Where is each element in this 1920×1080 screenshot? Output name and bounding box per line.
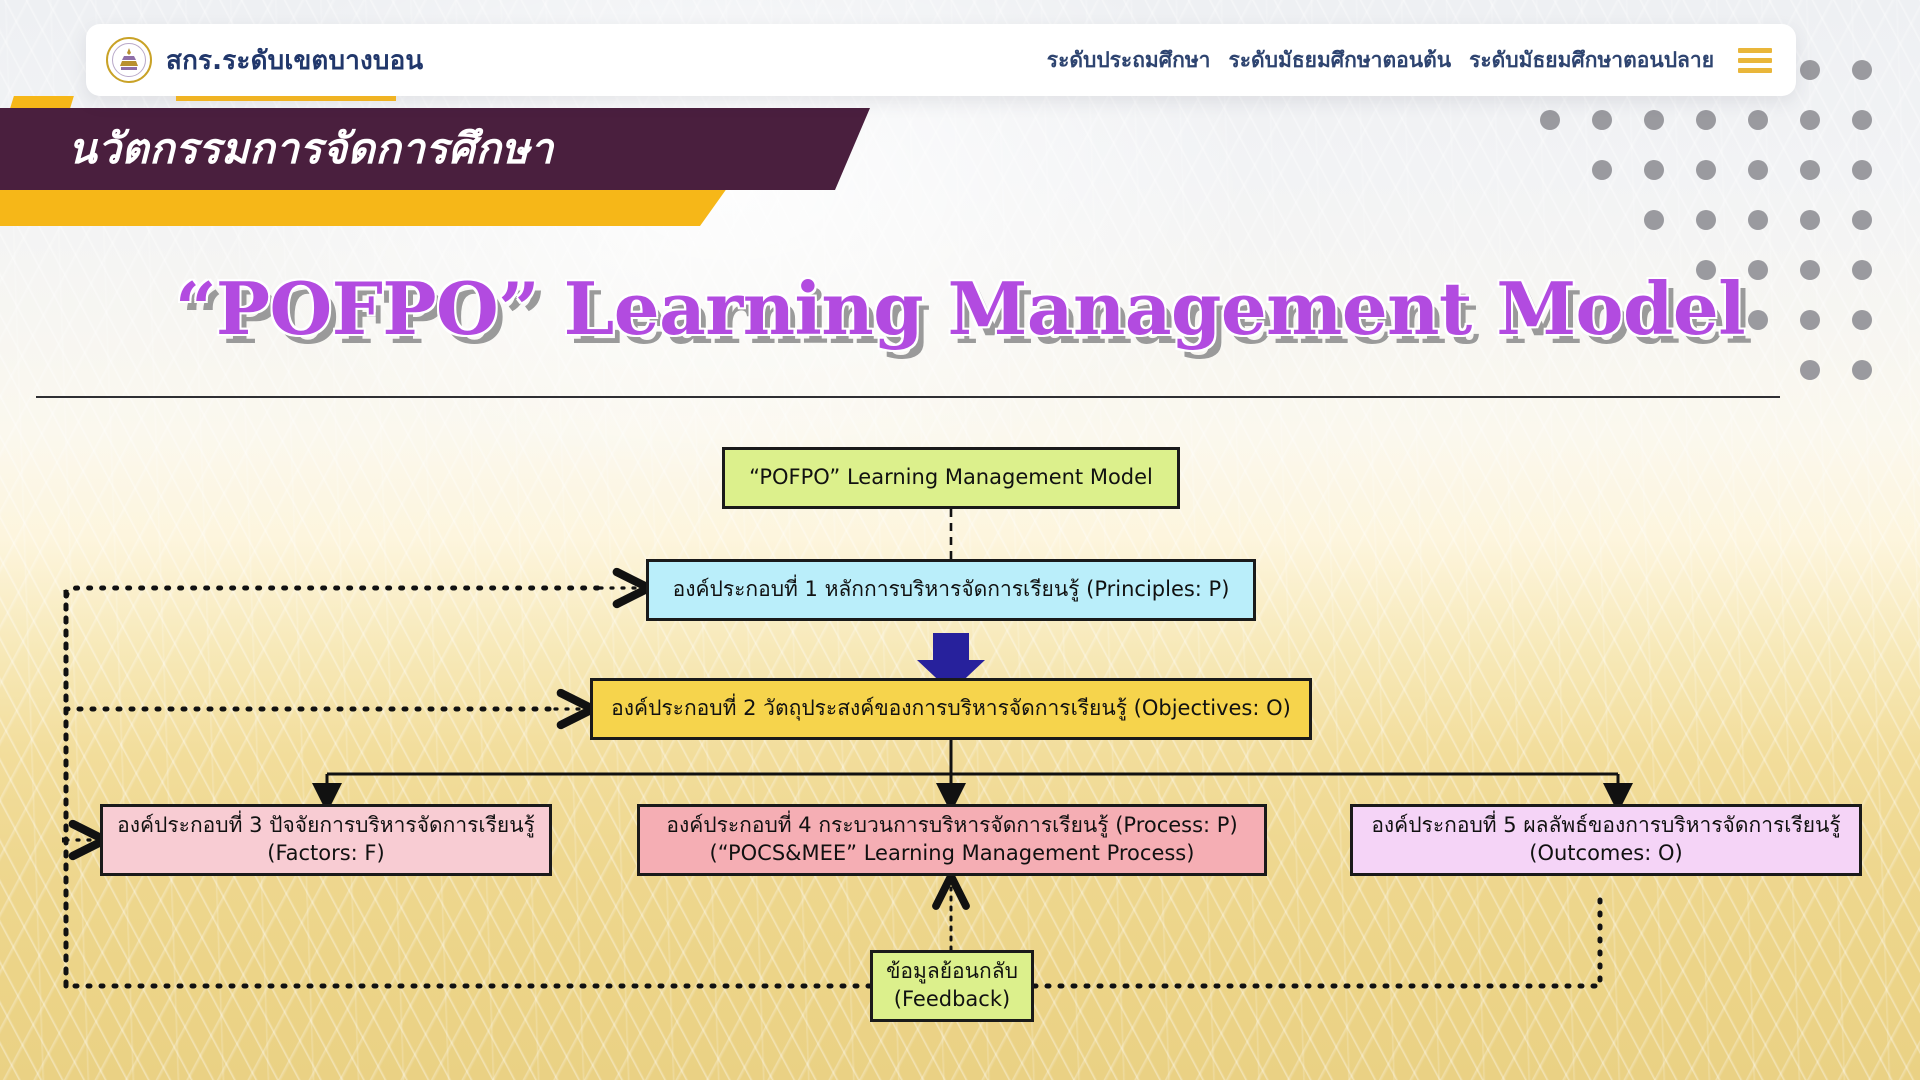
node-label-line1: ข้อมูลย้อนกลับ	[886, 958, 1018, 986]
royal-emblem-icon	[106, 37, 152, 83]
site-header: สกร.ระดับเขตบางบอน ระดับประถมศึกษา ระดับ…	[86, 24, 1796, 96]
node-label-line2: (Feedback)	[886, 986, 1018, 1014]
nav-item-upper-secondary[interactable]: ระดับมัธยมศึกษาตอนปลาย	[1469, 44, 1714, 77]
node-label: องค์ประกอบที่ 1 หลักการบริหารจัดการเรียน…	[673, 576, 1230, 604]
diagram-node-outcomes[interactable]: องค์ประกอบที่ 5 ผลลัพธ์ของการบริหารจัดกา…	[1350, 804, 1862, 876]
primary-navigation: ระดับประถมศึกษา ระดับมัธยมศึกษาตอนต้น ระ…	[1047, 44, 1796, 77]
page-root: สกร.ระดับเขตบางบอน ระดับประถมศึกษา ระดับ…	[0, 0, 1920, 1080]
node-label-line1: องค์ประกอบที่ 3 ปัจจัยการบริหารจัดการเรี…	[117, 812, 535, 840]
nav-item-lower-secondary[interactable]: ระดับมัธยมศึกษาตอนต้น	[1228, 44, 1451, 77]
node-label-line2: (Factors: F)	[117, 840, 535, 868]
node-label-line2: (“POCS&MEE” Learning Management Process)	[666, 840, 1237, 868]
node-label: องค์ประกอบที่ 2 วัตถุประสงค์ของการบริหาร…	[611, 695, 1291, 723]
ribbon-label: นวัตกรรมการจัดการศึกษา	[0, 116, 554, 182]
brand-title: สกร.ระดับเขตบางบอน	[166, 40, 423, 81]
diagram-node-process[interactable]: องค์ประกอบที่ 4 กระบวนการบริหารจัดการเรี…	[637, 804, 1267, 876]
nav-item-primary[interactable]: ระดับประถมศึกษา	[1047, 44, 1211, 77]
node-label-line1: องค์ประกอบที่ 5 ผลลัพธ์ของการบริหารจัดกา…	[1371, 812, 1840, 840]
ribbon-banner: นวัตกรรมการจัดการศึกษา	[0, 108, 870, 190]
diagram-node-principles[interactable]: องค์ประกอบที่ 1 หลักการบริหารจัดการเรียน…	[646, 559, 1256, 621]
node-label-line1: องค์ประกอบที่ 4 กระบวนการบริหารจัดการเรี…	[666, 812, 1237, 840]
brand-block[interactable]: สกร.ระดับเขตบางบอน	[86, 37, 423, 83]
section-ribbon: นวัตกรรมการจัดการศึกษา	[0, 96, 880, 226]
title-divider	[36, 396, 1780, 398]
diagram-node-factors[interactable]: องค์ประกอบที่ 3 ปัจจัยการบริหารจัดการเรี…	[100, 804, 552, 876]
hamburger-menu-icon[interactable]	[1738, 48, 1772, 73]
hamburger-bar	[1738, 68, 1772, 73]
diagram-node-objectives[interactable]: องค์ประกอบที่ 2 วัตถุประสงค์ของการบริหาร…	[590, 678, 1312, 740]
node-label: “POFPO” Learning Management Model	[749, 464, 1153, 492]
hamburger-bar	[1738, 58, 1772, 63]
page-title: “POFPO” Learning Management Model	[0, 266, 1920, 351]
diagram-node-feedback[interactable]: ข้อมูลย้อนกลับ (Feedback)	[870, 950, 1034, 1022]
ribbon-accent-bottom	[0, 184, 730, 226]
diagram-node-root[interactable]: “POFPO” Learning Management Model	[722, 447, 1180, 509]
node-label-line2: (Outcomes: O)	[1371, 840, 1840, 868]
hamburger-bar	[1738, 48, 1772, 53]
brand-underline-accent	[176, 96, 396, 101]
